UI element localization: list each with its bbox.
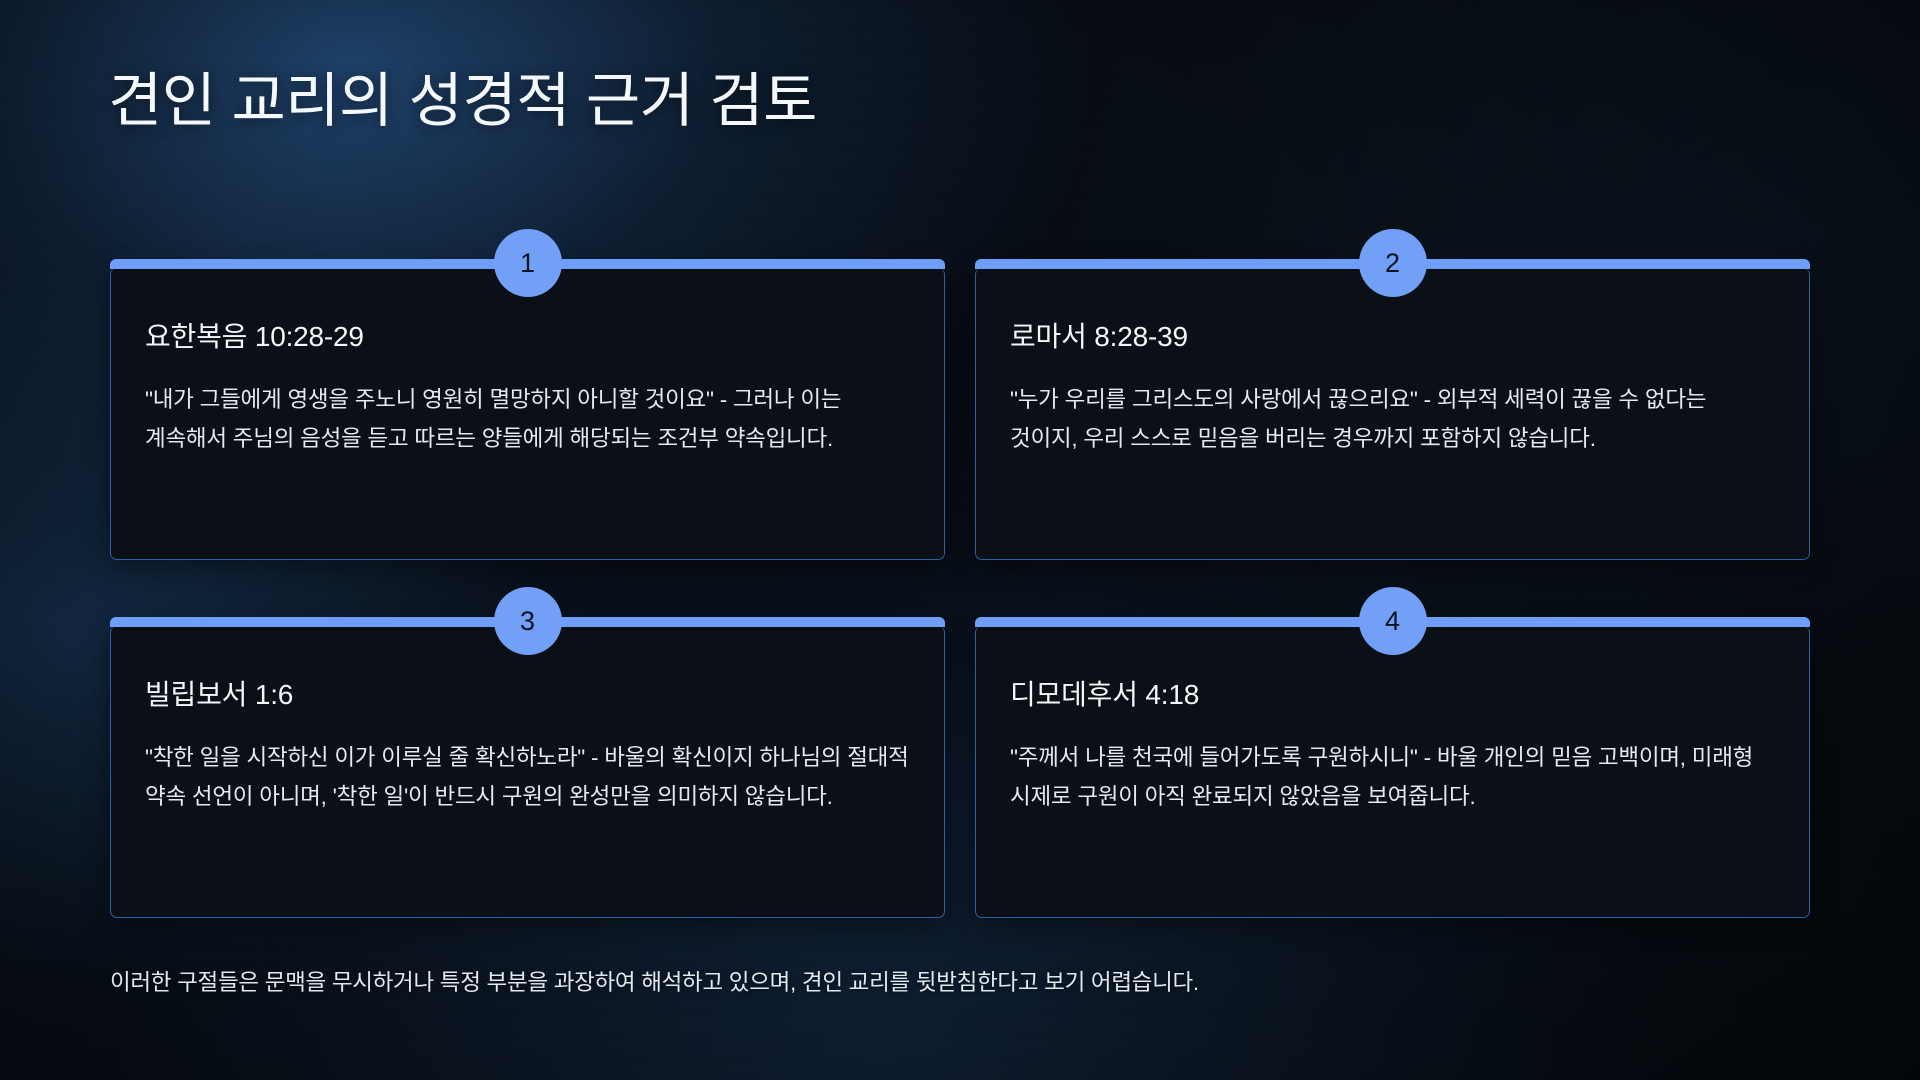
scripture-commentary: "내가 그들에게 영생을 주노니 영원히 멸망하지 아니할 것이요" - 그러나…	[145, 380, 910, 458]
evidence-card-grid: 1 요한복음 10:28-29 "내가 그들에게 영생을 주노니 영원히 멸망하…	[110, 268, 1810, 918]
scripture-reference: 요한복음 10:28-29	[145, 320, 910, 354]
scripture-reference: 디모데후서 4:18	[1010, 678, 1775, 712]
scripture-commentary: "주께서 나를 천국에 들어가도록 구원하시니" - 바울 개인의 믿음 고백이…	[1010, 738, 1775, 816]
page-title: 견인 교리의 성경적 근거 검토	[108, 68, 1808, 134]
card-number-badge: 3	[494, 587, 562, 655]
evidence-card[interactable]: 4 디모데후서 4:18 "주께서 나를 천국에 들어가도록 구원하시니" - …	[975, 626, 1810, 918]
evidence-card[interactable]: 3 빌립보서 1:6 "착한 일을 시작하신 이가 이루실 줄 확신하노라" -…	[110, 626, 945, 918]
card-number-badge: 4	[1359, 587, 1427, 655]
summary-note: 이러한 구절들은 문맥을 무시하거나 특정 부분을 과장하여 해석하고 있으며,…	[110, 965, 1830, 1001]
scripture-reference: 빌립보서 1:6	[145, 678, 910, 712]
evidence-card[interactable]: 1 요한복음 10:28-29 "내가 그들에게 영생을 주노니 영원히 멸망하…	[110, 268, 945, 560]
scripture-commentary: "착한 일을 시작하신 이가 이루실 줄 확신하노라" - 바울의 확신이지 하…	[145, 738, 910, 816]
slide-stage: 견인 교리의 성경적 근거 검토 1 요한복음 10:28-29 "내가 그들에…	[0, 0, 1920, 1080]
scripture-reference: 로마서 8:28-39	[1010, 320, 1775, 354]
scripture-commentary: "누가 우리를 그리스도의 사랑에서 끊으리요" - 외부적 세력이 끊을 수 …	[1010, 380, 1775, 458]
card-number-badge: 1	[494, 229, 562, 297]
card-number-badge: 2	[1359, 229, 1427, 297]
evidence-card[interactable]: 2 로마서 8:28-39 "누가 우리를 그리스도의 사랑에서 끊으리요" -…	[975, 268, 1810, 560]
